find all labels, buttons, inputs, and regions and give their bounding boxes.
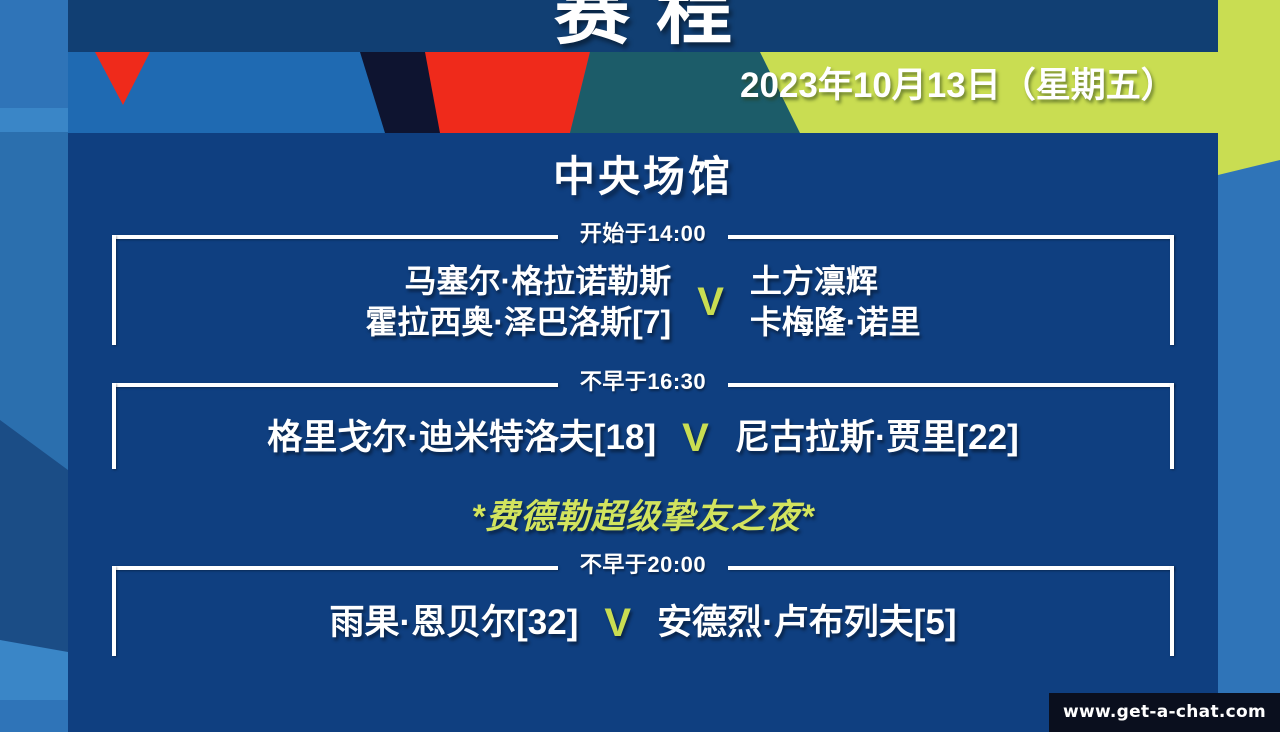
player-name: 安德烈·卢布列夫[5]	[657, 601, 956, 646]
player-side-left: 马塞尔·格拉诺勒斯 霍拉西奥·泽巴洛斯[7]	[365, 261, 671, 343]
watermark: www.get-a-chat.com	[1049, 693, 1280, 732]
venue-title: 中央场馆	[68, 133, 1218, 199]
player-name: 霍拉西奥·泽巴洛斯[7]	[365, 302, 671, 343]
player-name: 马塞尔·格拉诺勒斯	[365, 261, 671, 302]
player-name: 卡梅隆·诺里	[750, 302, 921, 343]
player-side-right: 安德烈·卢布列夫[5]	[657, 601, 956, 646]
match-time: 不早于20:00	[112, 550, 1174, 580]
versus-label: V	[578, 603, 657, 643]
match-time: 不早于16:30	[112, 367, 1174, 397]
player-side-right: 土方凛辉 卡梅隆·诺里	[750, 261, 921, 343]
match-pairing: 格里戈尔·迪米特洛夫[18] V 尼古拉斯·贾里[22]	[112, 401, 1174, 475]
player-name: 尼古拉斯·贾里[22]	[735, 416, 1019, 461]
page-title: 赛程	[528, 0, 758, 52]
match-time: 开始于14:00	[112, 219, 1174, 249]
match-row[interactable]: 开始于14:00 马塞尔·格拉诺勒斯 霍拉西奥·泽巴洛斯[7] V 土方凛辉 卡…	[112, 219, 1174, 351]
player-side-left: 格里戈尔·迪米特洛夫[18]	[267, 416, 656, 461]
poster-date: 2023年10月13日（星期五）	[740, 62, 1220, 110]
versus-label: V	[656, 418, 735, 458]
player-name: 雨果·恩贝尔[32]	[329, 601, 578, 646]
schedule-card: 中央场馆 开始于14:00 马塞尔·格拉诺勒斯 霍拉西奥·泽巴洛斯[7] V 土…	[68, 133, 1218, 732]
match-pairing: 雨果·恩贝尔[32] V 安德烈·卢布列夫[5]	[112, 584, 1174, 662]
player-side-left: 雨果·恩贝尔[32]	[329, 601, 578, 646]
player-side-right: 尼古拉斯·贾里[22]	[735, 416, 1019, 461]
match-pairing: 马塞尔·格拉诺勒斯 霍拉西奥·泽巴洛斯[7] V 土方凛辉 卡梅隆·诺里	[112, 253, 1174, 351]
poster-title-bar: 赛程	[68, 0, 1218, 52]
match-row[interactable]: 不早于20:00 雨果·恩贝尔[32] V 安德烈·卢布列夫[5]	[112, 550, 1174, 662]
player-name: 格里戈尔·迪米特洛夫[18]	[267, 416, 656, 461]
promo-banner: *费德勒超级挚友之夜*	[68, 489, 1218, 538]
player-name: 土方凛辉	[750, 261, 921, 302]
versus-label: V	[671, 282, 750, 322]
match-row[interactable]: 不早于16:30 格里戈尔·迪米特洛夫[18] V 尼古拉斯·贾里[22]	[112, 367, 1174, 475]
poster-stage: 赛程 2023年10月13日（星期五） 中央场馆 开始于14:00 马塞尔·格拉…	[0, 0, 1280, 732]
